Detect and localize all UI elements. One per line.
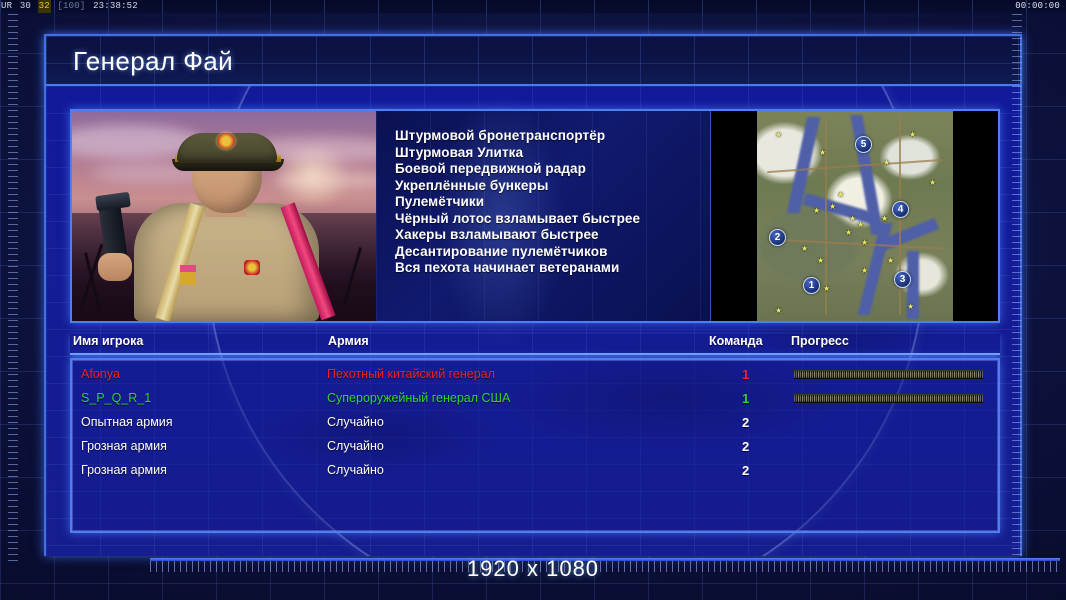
player-team-cell: 2 <box>742 439 749 454</box>
ability-item: Десантирование пулемётчиков <box>395 244 710 261</box>
table-row[interactable]: Грозная армияСлучайно2 <box>72 458 998 482</box>
map-supply-dock-icon: ★ <box>775 131 782 139</box>
map-supply-dock-icon: ★ <box>883 159 890 167</box>
player-army-cell: Случайно <box>327 415 384 429</box>
status-bar: UR 30 32 [100] 23:38:52 00:00:00 <box>0 0 1066 13</box>
player-progress-bar <box>794 418 983 427</box>
table-row[interactable]: AfonyaПехотный китайский генерал1 <box>72 362 998 386</box>
status-bracket-value: [100] <box>56 0 86 13</box>
ability-item: Штурмовая Улитка <box>395 145 710 162</box>
map-supply-dock-icon: ★ <box>837 191 844 199</box>
ability-item: Пулемётчики <box>395 194 710 211</box>
portrait-cap-emblem <box>217 133 235 149</box>
status-clock: 23:38:52 <box>92 0 139 13</box>
player-team-cell: 2 <box>742 415 749 430</box>
map-supply-dock-icon: ★ <box>929 179 936 187</box>
ability-item: Укреплённые бункеры <box>395 178 710 195</box>
table-row[interactable]: Грозная армияСлучайно2 <box>72 434 998 458</box>
column-header-player-name: Имя игрока <box>73 334 143 348</box>
player-table-header: Имя игрока Армия Команда Прогресс <box>70 334 1000 355</box>
player-name-cell: S_P_Q_R_1 <box>81 391 151 405</box>
general-info-window: Генерал Фай <box>44 34 1022 556</box>
player-army-cell: Пехотный китайский генерал <box>327 367 495 381</box>
map-supply-dock-icon: ★ <box>861 239 868 247</box>
portrait-hand <box>98 253 132 281</box>
map-supply-dock-icon: ★ <box>845 229 852 237</box>
map-supply-dock-icon: ★ <box>823 285 830 293</box>
player-name-cell: Afonya <box>81 367 120 381</box>
map-start-position-marker: 5 <box>855 136 872 153</box>
table-row[interactable]: Опытная армияСлучайно2 <box>72 410 998 434</box>
portrait-star-badge <box>244 260 260 275</box>
map-start-position-marker: 1 <box>803 277 820 294</box>
player-name-cell: Грозная армия <box>81 439 167 453</box>
map-supply-dock-icon: ★ <box>817 257 824 265</box>
player-name-cell: Грозная армия <box>81 463 167 477</box>
page-title: Генерал Фай <box>46 36 1020 86</box>
ability-item: Хакеры взламывают быстрее <box>395 227 710 244</box>
window-titlebar: Генерал Фай <box>46 36 1020 86</box>
status-value-2: 32 <box>38 0 51 13</box>
column-header-progress: Прогресс <box>791 334 849 348</box>
player-team-cell: 1 <box>742 367 749 382</box>
general-abilities-list: Штурмовой бронетранспортёр Штурмовая Ули… <box>376 111 710 321</box>
map-start-position-marker: 4 <box>892 201 909 218</box>
abilities-items: Штурмовой бронетранспортёр Штурмовая Ули… <box>395 128 710 277</box>
window-body: Штурмовой бронетранспортёр Штурмовая Ули… <box>46 86 1020 556</box>
map-start-position-marker: 2 <box>769 229 786 246</box>
map-supply-dock-icon: ★ <box>857 221 864 229</box>
ability-item: Вся пехота начинает ветеранами <box>395 260 710 277</box>
map-supply-dock-icon: ★ <box>907 303 914 311</box>
map-supply-dock-icon: ★ <box>813 207 820 215</box>
map-supply-dock-icon: ★ <box>819 149 826 157</box>
player-progress-bar <box>794 442 983 451</box>
player-team-cell: 1 <box>742 391 749 406</box>
player-army-cell: Супероружейный генерал США <box>327 391 510 405</box>
map-start-position-marker: 3 <box>894 271 911 288</box>
map-supply-dock-icon: ★ <box>909 131 916 139</box>
map-supply-dock-icon: ★ <box>887 257 894 265</box>
map-preview-container: 12345 ★★★★★★★★★★★★★★★★★★★★ <box>710 111 998 321</box>
map-supply-dock-icon: ★ <box>861 267 868 275</box>
map-supply-dock-icon: ★ <box>775 307 782 315</box>
status-bar-ticks <box>0 0 1066 13</box>
map-road <box>771 239 943 250</box>
map-supply-dock-icon: ★ <box>829 203 836 211</box>
map-supply-dock-icon: ★ <box>801 245 808 253</box>
general-portrait <box>72 111 376 321</box>
player-progress-bar <box>794 370 983 379</box>
player-table: AfonyaПехотный китайский генерал1S_P_Q_R… <box>70 358 1000 533</box>
column-header-team: Команда <box>709 334 763 348</box>
map-supply-dock-icon: ★ <box>849 215 856 223</box>
ability-item: Штурмовой бронетранспортёр <box>395 128 710 145</box>
player-army-cell: Случайно <box>327 439 384 453</box>
general-info-panel: Штурмовой бронетранспортёр Штурмовая Ули… <box>70 109 1000 323</box>
status-right-clock: 00:00:00 <box>1015 0 1060 13</box>
resolution-label: 1920 x 1080 <box>0 556 1066 582</box>
player-name-cell: Опытная армия <box>81 415 173 429</box>
portrait-pistol-slide <box>95 192 131 212</box>
ability-item: Чёрный лотос взламывает быстрее <box>395 211 710 228</box>
player-progress-bar <box>794 394 983 403</box>
table-row[interactable]: S_P_Q_R_1Супероружейный генерал США1 <box>72 386 998 410</box>
ability-item: Боевой передвижной радар <box>395 161 710 178</box>
map-preview[interactable]: 12345 ★★★★★★★★★★★★★★★★★★★★ <box>757 111 953 321</box>
column-header-army: Армия <box>328 334 369 348</box>
map-supply-dock-icon: ★ <box>881 215 888 223</box>
map-road <box>767 159 943 173</box>
player-progress-bar <box>794 466 983 475</box>
player-team-cell: 2 <box>742 463 749 478</box>
player-army-cell: Случайно <box>327 463 384 477</box>
portrait-medal <box>180 265 196 285</box>
status-value-1: 30 <box>19 0 32 13</box>
status-label-ur: UR <box>0 0 13 13</box>
